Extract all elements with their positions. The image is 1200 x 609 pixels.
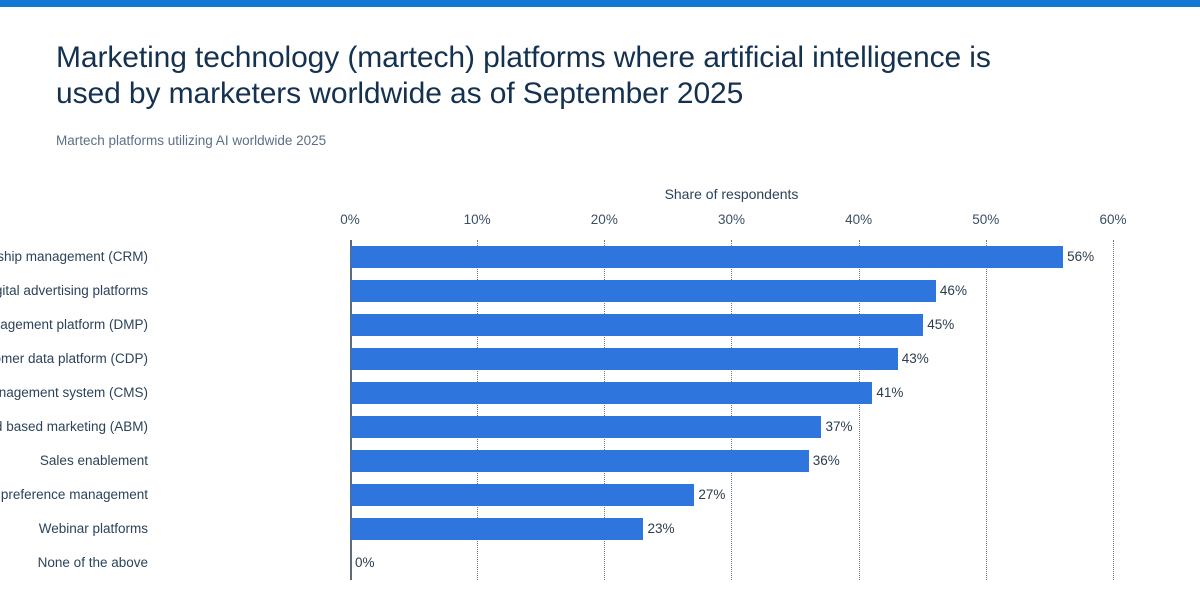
bar-row[interactable]: Customer data platform (CDP)43% bbox=[0, 342, 1200, 376]
bar-row[interactable]: Webinar platforms23% bbox=[0, 512, 1200, 546]
x-tick-label: 20% bbox=[591, 212, 618, 227]
bar-value-label: 23% bbox=[647, 519, 674, 539]
bar-category-label: Webinar platforms bbox=[0, 519, 148, 539]
bar-row[interactable]: Privacy & preference management27% bbox=[0, 478, 1200, 512]
bar[interactable] bbox=[351, 518, 643, 540]
bar-value-label: 45% bbox=[927, 315, 954, 335]
bar-category-label: Data management platform (DMP) bbox=[0, 315, 148, 335]
bar-value-label: 46% bbox=[940, 281, 967, 301]
bar-category-label: Accound based marketing (ABM) bbox=[0, 417, 148, 437]
bar[interactable] bbox=[351, 416, 821, 438]
chart-subtitle: Martech platforms utilizing AI worldwide… bbox=[56, 112, 1156, 150]
bar-category-label: Customer data platform (CDP) bbox=[0, 349, 148, 369]
bar-category-label: Customer relationship management (CRM) bbox=[0, 247, 148, 267]
bar-category-label: Sales enablement bbox=[0, 451, 148, 471]
page-title: Marketing technology (martech) platforms… bbox=[56, 40, 1156, 112]
bar[interactable] bbox=[351, 484, 694, 506]
x-tick-label: 50% bbox=[972, 212, 999, 227]
chart-header: Marketing technology (martech) platforms… bbox=[56, 40, 1156, 150]
bar-value-label: 43% bbox=[902, 349, 929, 369]
bar-category-label: Content management system (CMS) bbox=[0, 383, 148, 403]
bar-category-label: None of the above bbox=[0, 553, 148, 573]
x-tick-label: 40% bbox=[845, 212, 872, 227]
bar-row[interactable]: Customer relationship management (CRM)56… bbox=[0, 240, 1200, 274]
bar[interactable] bbox=[351, 280, 936, 302]
bar-value-label: 36% bbox=[813, 451, 840, 471]
bar-value-label: 27% bbox=[698, 485, 725, 505]
x-axis-title: Share of respondents bbox=[350, 186, 1113, 202]
x-axis-tick-labels: 0%10%20%30%40%50%60% bbox=[0, 212, 1200, 232]
bar-category-label: Digital advertising platforms bbox=[0, 281, 148, 301]
bar-row[interactable]: Digital advertising platforms46% bbox=[0, 274, 1200, 308]
bar-row[interactable]: Sales enablement36% bbox=[0, 444, 1200, 478]
bar[interactable] bbox=[351, 348, 898, 370]
bar-row[interactable]: Data management platform (DMP)45% bbox=[0, 308, 1200, 342]
bar-row[interactable]: Content management system (CMS)41% bbox=[0, 376, 1200, 410]
bar-value-label: 37% bbox=[825, 417, 852, 437]
bar-category-label: Privacy & preference management bbox=[0, 485, 148, 505]
bar[interactable] bbox=[351, 246, 1063, 268]
bar-row[interactable]: None of the above0% bbox=[0, 546, 1200, 580]
bar-value-label: 0% bbox=[355, 553, 375, 573]
bar[interactable] bbox=[351, 382, 872, 404]
bar[interactable] bbox=[351, 314, 923, 336]
bar-row[interactable]: Accound based marketing (ABM)37% bbox=[0, 410, 1200, 444]
x-tick-label: 60% bbox=[1099, 212, 1126, 227]
brand-band bbox=[0, 0, 1200, 7]
chart-plot-area: Share of respondents 0%10%20%30%40%50%60… bbox=[0, 186, 1200, 586]
x-tick-label: 30% bbox=[718, 212, 745, 227]
bar-value-label: 56% bbox=[1067, 247, 1094, 267]
bar-series: Customer relationship management (CRM)56… bbox=[0, 240, 1200, 580]
x-tick-label: 10% bbox=[464, 212, 491, 227]
bar-value-label: 41% bbox=[876, 383, 903, 403]
bar[interactable] bbox=[351, 450, 809, 472]
x-tick-label: 0% bbox=[340, 212, 360, 227]
